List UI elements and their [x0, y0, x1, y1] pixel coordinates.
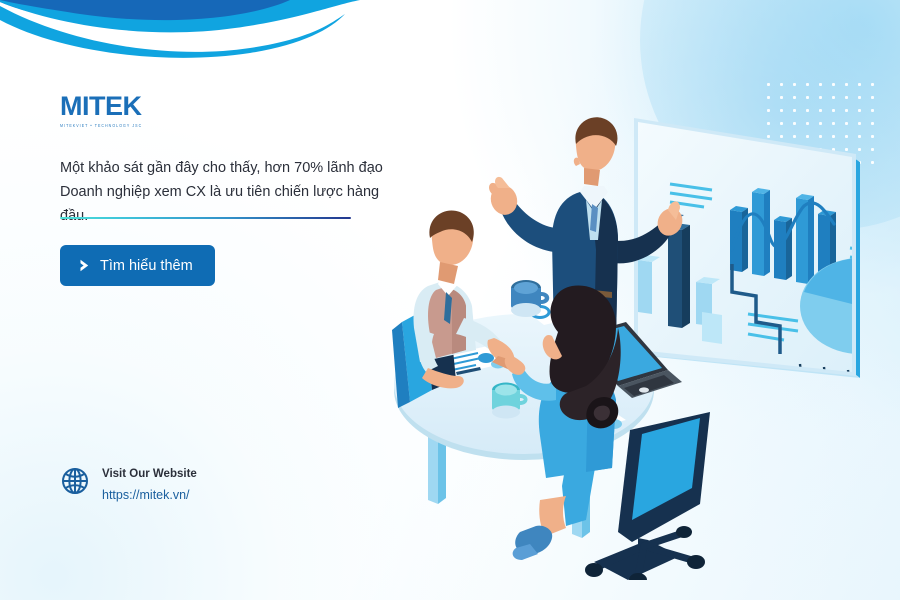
marketing-banner: MITEK MITEKVIET • TECHNOLOGY JSC Một khả… [0, 0, 900, 600]
learn-more-label: Tìm hiểu thêm [100, 258, 193, 274]
chevron-right-icon [79, 259, 90, 272]
website-link[interactable]: Visit Our Website https://mitek.vn/ [60, 462, 197, 505]
brand-logo[interactable]: MITEK MITEKVIET • TECHNOLOGY JSC [60, 93, 142, 127]
learn-more-button[interactable]: Tìm hiểu thêm [60, 245, 215, 286]
website-title: Visit Our Website [102, 468, 197, 480]
headline-line-1: Một khảo sát gần đây cho thấy, hơn 70% l… [60, 157, 390, 181]
website-url: https://mitek.vn/ [102, 488, 190, 502]
globe-icon [60, 466, 90, 501]
logo-wordmark: MITEK [60, 93, 142, 120]
gradient-divider [60, 217, 351, 219]
website-text-block: Visit Our Website https://mitek.vn/ [102, 462, 197, 505]
illustration-isometric-meeting [380, 100, 880, 580]
logo-tagline: MITEKVIET • TECHNOLOGY JSC [60, 123, 142, 128]
presentation-screen [634, 118, 880, 386]
decorative-wave-group [0, 0, 420, 90]
headline-line-2: Doanh nghiệp xem CX là ưu tiên chiến lượ… [60, 181, 390, 229]
